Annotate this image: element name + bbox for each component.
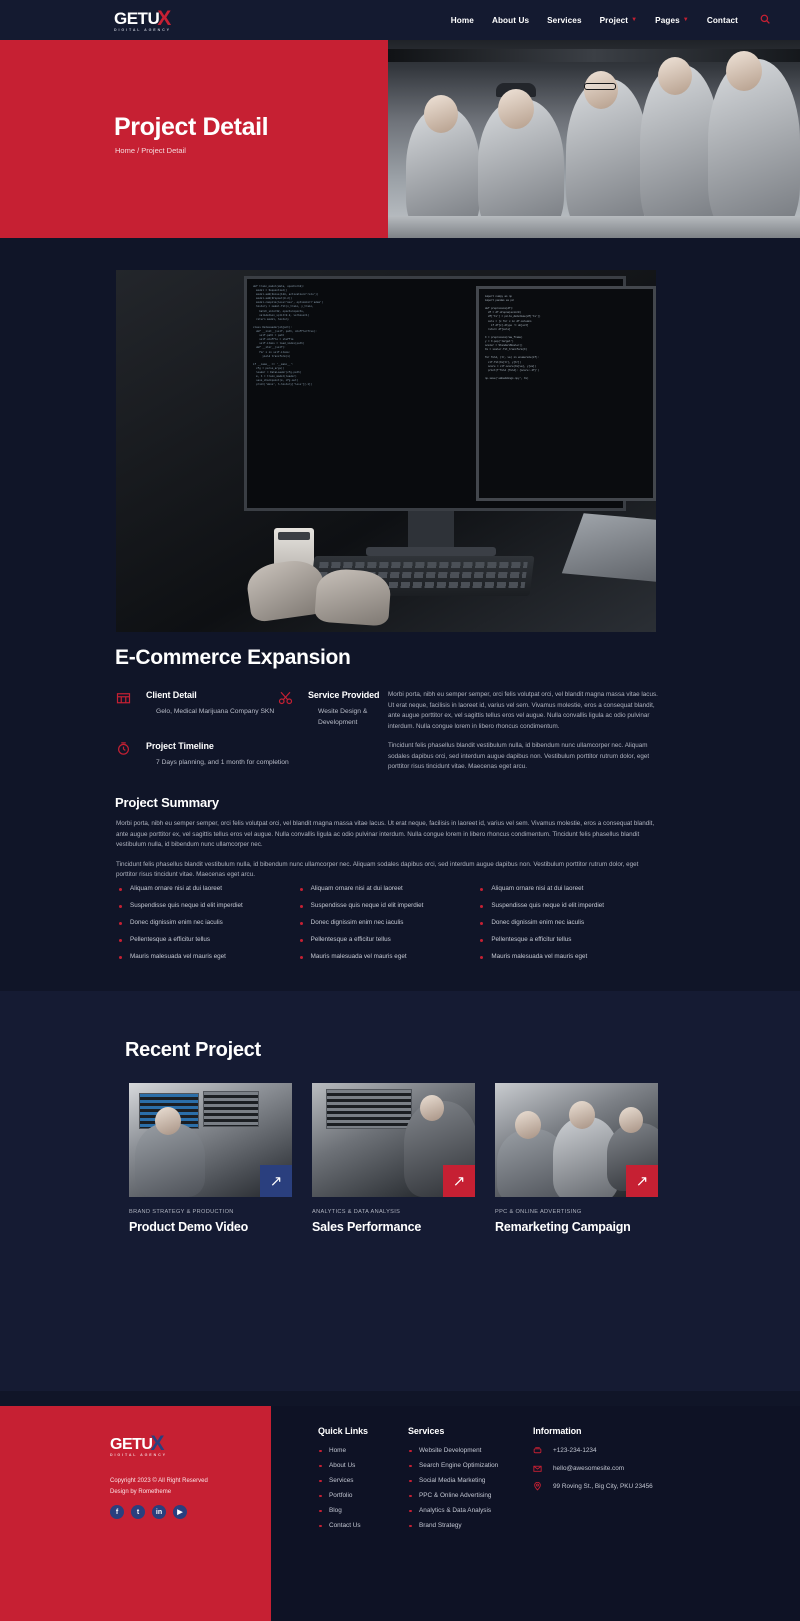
section-title: Recent Project <box>125 1039 261 1062</box>
project-card-category: PPC & ONLINE ADVERTISING <box>495 1209 658 1215</box>
project-card-list: ↗ BRAND STRATEGY & PRODUCTION Product De… <box>129 1083 658 1234</box>
footer-link-ppc-advertising[interactable]: PPC & Online Advertising <box>408 1492 498 1499</box>
project-title: E-Commerce Expansion <box>115 646 351 670</box>
code-text-secondary: import numpy as np import pandas as pd d… <box>485 295 647 492</box>
list-item: Suspendisse quis neque id elit imperdiet <box>297 901 478 911</box>
contact-email[interactable]: hello@awesomesite.com <box>533 1465 653 1472</box>
nav-item-project[interactable]: Project▼ <box>600 16 638 25</box>
twitter-icon[interactable]: t <box>131 1505 145 1519</box>
project-card-title: Product Demo Video <box>129 1220 292 1234</box>
footer-link-seo[interactable]: Search Engine Optimization <box>408 1462 498 1469</box>
bullet-column: Aliquam ornare nisi at dui laoreet Suspe… <box>477 884 658 969</box>
footer-link-website-development[interactable]: Website Development <box>408 1447 498 1454</box>
contact-value: 99 Roving St., Big City, PKU 23456 <box>553 1483 653 1490</box>
project-card[interactable]: ↗ PPC & ONLINE ADVERTISING Remarketing C… <box>495 1083 658 1234</box>
footer-link-social-media-marketing[interactable]: Social Media Marketing <box>408 1477 498 1484</box>
info-body: 7 Days planning, and 1 month for complet… <box>156 757 396 768</box>
list-item: Aliquam ornare nisi at dui laoreet <box>477 884 658 894</box>
nav-item-contact[interactable]: Contact <box>707 16 738 25</box>
info-heading: Project Timeline <box>146 741 396 751</box>
list-item: Pellentesque a efficitur tellus <box>477 935 658 945</box>
bullet-column: Aliquam ornare nisi at dui laoreet Suspe… <box>116 884 297 969</box>
footer-link-brand-strategy[interactable]: Brand Strategy <box>408 1522 498 1529</box>
paragraph: Morbi porta, nibh eu semper semper, orci… <box>116 819 658 851</box>
footer-information: Information +123-234-1234 hello@awesomes… <box>533 1426 653 1501</box>
list-item: Mauris malesuada vel mauris eget <box>297 952 478 962</box>
arrow-icon[interactable]: ↗ <box>626 1165 658 1197</box>
footer-link-analytics[interactable]: Analytics & Data Analysis <box>408 1507 498 1514</box>
logo-x-mark: X <box>157 8 171 29</box>
arrow-icon[interactable]: ↗ <box>260 1165 292 1197</box>
project-card-category: ANALYTICS & DATA ANALYSIS <box>312 1209 475 1215</box>
nav-label: Pages <box>655 16 680 25</box>
search-icon[interactable] <box>760 14 770 27</box>
breadcrumb[interactable]: Home / Project Detail <box>115 146 186 155</box>
project-summary-body: Morbi porta, nibh eu semper semper, orci… <box>116 819 658 890</box>
info-heading: Service Provided <box>308 690 396 700</box>
phone-icon <box>533 1446 542 1457</box>
mail-icon <box>533 1464 542 1475</box>
recent-project-section: Recent Project ↗ BRAND STRATEGY & PRODUC… <box>0 991 800 1391</box>
project-card[interactable]: ↗ BRAND STRATEGY & PRODUCTION Product De… <box>129 1083 292 1234</box>
project-card-image: ↗ <box>129 1083 292 1197</box>
social-links: f t in ▶ <box>110 1505 187 1519</box>
clock-icon <box>116 741 134 759</box>
project-card-image: ↗ <box>312 1083 475 1197</box>
location-icon <box>533 1482 542 1493</box>
logo-x-mark: X <box>150 1433 164 1454</box>
list-item: Donec dignissim enim nec iaculis <box>297 918 478 928</box>
nav-label: Project <box>600 16 628 25</box>
list-item: Pellentesque a efficitur tellus <box>116 935 297 945</box>
feature-bullets: Aliquam ornare nisi at dui laoreet Suspe… <box>116 884 658 969</box>
column-heading: Services <box>408 1426 498 1436</box>
footer-link-contact-us[interactable]: Contact Us <box>318 1522 368 1529</box>
facebook-icon[interactable]: f <box>110 1505 124 1519</box>
project-summary-title: Project Summary <box>115 795 219 810</box>
footer-link-blog[interactable]: Blog <box>318 1507 368 1514</box>
project-hero-image: def train_model(data, epochs=10): model … <box>116 270 656 632</box>
contact-address[interactable]: 99 Roving St., Big City, PKU 23456 <box>533 1483 653 1490</box>
site-header: GETUX DIGITAL AGENCY Home About Us Servi… <box>0 0 800 40</box>
footer-link-home[interactable]: Home <box>318 1447 368 1454</box>
column-heading: Information <box>533 1426 653 1436</box>
list-item: Aliquam ornare nisi at dui laoreet <box>297 884 478 894</box>
project-card-title: Sales Performance <box>312 1220 475 1234</box>
paragraph: Morbi porta, nibh eu semper semper, orci… <box>388 690 658 732</box>
footer-link-services[interactable]: Services <box>318 1477 368 1484</box>
nav-item-services[interactable]: Services <box>547 16 582 25</box>
nav-label: Services <box>547 16 582 25</box>
page-title: Project Detail <box>114 113 268 142</box>
list-item: Mauris malesuada vel mauris eget <box>116 952 297 962</box>
project-info-grid: Client Detail Gelo, Medical Marijuana Co… <box>116 690 396 792</box>
list-item: Aliquam ornare nisi at dui laoreet <box>116 884 297 894</box>
chevron-down-icon: ▼ <box>631 17 637 23</box>
design-credit: Design by Rometheme <box>110 1487 208 1498</box>
footer-services: Services Website Development Search Engi… <box>408 1426 498 1537</box>
list-item: Donec dignissim enim nec iaculis <box>116 918 297 928</box>
site-footer: GETUX DIGITAL AGENCY Copyright 2023 © Al… <box>0 1406 800 1621</box>
list-item: Pellentesque a efficitur tellus <box>297 935 478 945</box>
list-item: Mauris malesuada vel mauris eget <box>477 952 658 962</box>
nav-item-about-us[interactable]: About Us <box>492 16 529 25</box>
footer-copyright: Copyright 2023 © All Right Reserved Desi… <box>110 1476 208 1497</box>
project-card-category: BRAND STRATEGY & PRODUCTION <box>129 1209 292 1215</box>
footer-link-about-us[interactable]: About Us <box>318 1462 368 1469</box>
column-heading: Quick Links <box>318 1426 368 1436</box>
youtube-icon[interactable]: ▶ <box>173 1505 187 1519</box>
linkedin-icon[interactable]: in <box>152 1505 166 1519</box>
footer-quick-links: Quick Links Home About Us Services Portf… <box>318 1426 368 1537</box>
list-item: Donec dignissim enim nec iaculis <box>477 918 658 928</box>
info-project-timeline: Project Timeline 7 Days planning, and 1 … <box>116 741 396 768</box>
building-icon <box>116 690 134 708</box>
hero-section: Project Detail Home / Project Detail <box>0 35 800 238</box>
project-side-copy: Morbi porta, nibh eu semper semper, orci… <box>388 690 658 782</box>
nav-label: Contact <box>707 16 738 25</box>
site-logo[interactable]: GETUX DIGITAL AGENCY <box>114 7 171 33</box>
monitor-secondary: import numpy as np import pandas as pd d… <box>476 286 656 501</box>
list-item: Suspendisse quis neque id elit imperdiet <box>116 901 297 911</box>
chevron-down-icon: ▼ <box>683 17 689 23</box>
paragraph: Tincidunt felis phasellus blandit vestib… <box>388 741 658 773</box>
project-card-image: ↗ <box>495 1083 658 1197</box>
contact-value: +123-234-1234 <box>553 1447 597 1454</box>
nav-item-home[interactable]: Home <box>451 16 474 25</box>
list-item: Suspendisse quis neque id elit imperdiet <box>477 901 658 911</box>
footer-link-portfolio[interactable]: Portfolio <box>318 1492 368 1499</box>
nav-label: About Us <box>492 16 529 25</box>
paragraph: Tincidunt felis phasellus blandit vestib… <box>116 860 658 881</box>
nav-item-pages[interactable]: Pages▼ <box>655 16 689 25</box>
project-card[interactable]: ↗ ANALYTICS & DATA ANALYSIS Sales Perfor… <box>312 1083 475 1234</box>
scissors-icon <box>278 690 296 708</box>
info-body: Wesite Design & Development <box>318 706 396 728</box>
main-navigation: Home About Us Services Project▼ Pages▼ C… <box>451 14 770 27</box>
copyright-text: Copyright 2023 © All Right Reserved <box>110 1476 208 1487</box>
contact-phone[interactable]: +123-234-1234 <box>533 1447 653 1454</box>
hero-photo <box>388 35 800 238</box>
footer-logo[interactable]: GETUX DIGITAL AGENCY <box>110 1432 167 1458</box>
nav-label: Home <box>451 16 474 25</box>
info-service-provided: Service Provided Wesite Design & Develop… <box>278 690 396 728</box>
logo-text: GETU <box>110 1437 152 1453</box>
logo-text: GETU <box>114 10 159 27</box>
contact-value: hello@awesomesite.com <box>553 1465 624 1472</box>
project-card-title: Remarketing Campaign <box>495 1220 658 1234</box>
bullet-column: Aliquam ornare nisi at dui laoreet Suspe… <box>297 884 478 969</box>
arrow-icon[interactable]: ↗ <box>443 1165 475 1197</box>
